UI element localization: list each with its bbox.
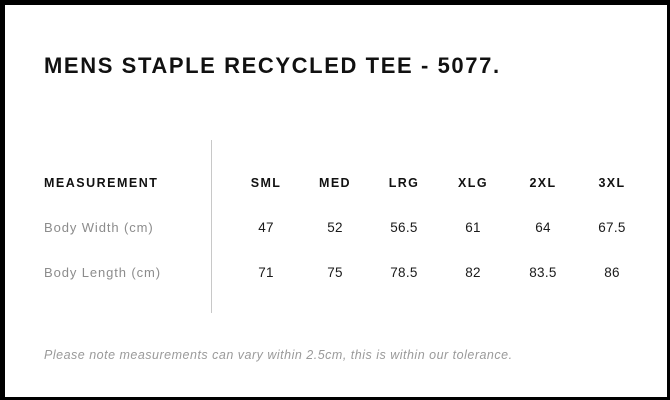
column-header-xlg: XLG bbox=[438, 170, 508, 196]
cell-body-length-sml: 71 bbox=[231, 260, 301, 286]
cell-body-length-2xl: 83.5 bbox=[508, 260, 578, 286]
cell-body-length-3xl: 86 bbox=[577, 260, 647, 286]
column-header-med: MED bbox=[300, 170, 370, 196]
size-table: MEASUREMENT SML MED LRG XLG 2XL 3XL Body… bbox=[5, 5, 667, 397]
size-chart-canvas: MENS STAPLE RECYCLED TEE - 5077. MEASURE… bbox=[5, 5, 667, 397]
table-header-row: MEASUREMENT SML MED LRG XLG 2XL 3XL bbox=[5, 170, 667, 196]
cell-body-width-2xl: 64 bbox=[508, 215, 578, 241]
tolerance-footnote: Please note measurements can vary within… bbox=[44, 346, 513, 364]
cell-body-length-med: 75 bbox=[300, 260, 370, 286]
cell-body-length-xlg: 82 bbox=[438, 260, 508, 286]
column-header-measurement: MEASUREMENT bbox=[44, 170, 158, 196]
column-header-lrg: LRG bbox=[369, 170, 439, 196]
size-chart-screen: MENS STAPLE RECYCLED TEE - 5077. MEASURE… bbox=[0, 0, 670, 400]
table-row: Body Length (cm) 71 75 78.5 82 83.5 86 bbox=[5, 260, 667, 286]
column-header-sml: SML bbox=[231, 170, 301, 196]
cell-body-width-med: 52 bbox=[300, 215, 370, 241]
cell-body-width-lrg: 56.5 bbox=[369, 215, 439, 241]
column-header-3xl: 3XL bbox=[577, 170, 647, 196]
cell-body-width-xlg: 61 bbox=[438, 215, 508, 241]
cell-body-width-3xl: 67.5 bbox=[577, 215, 647, 241]
row-label-body-length: Body Length (cm) bbox=[44, 260, 161, 286]
row-label-body-width: Body Width (cm) bbox=[44, 215, 154, 241]
column-header-2xl: 2XL bbox=[508, 170, 578, 196]
cell-body-width-sml: 47 bbox=[231, 215, 301, 241]
cell-body-length-lrg: 78.5 bbox=[369, 260, 439, 286]
table-row: Body Width (cm) 47 52 56.5 61 64 67.5 bbox=[5, 215, 667, 241]
